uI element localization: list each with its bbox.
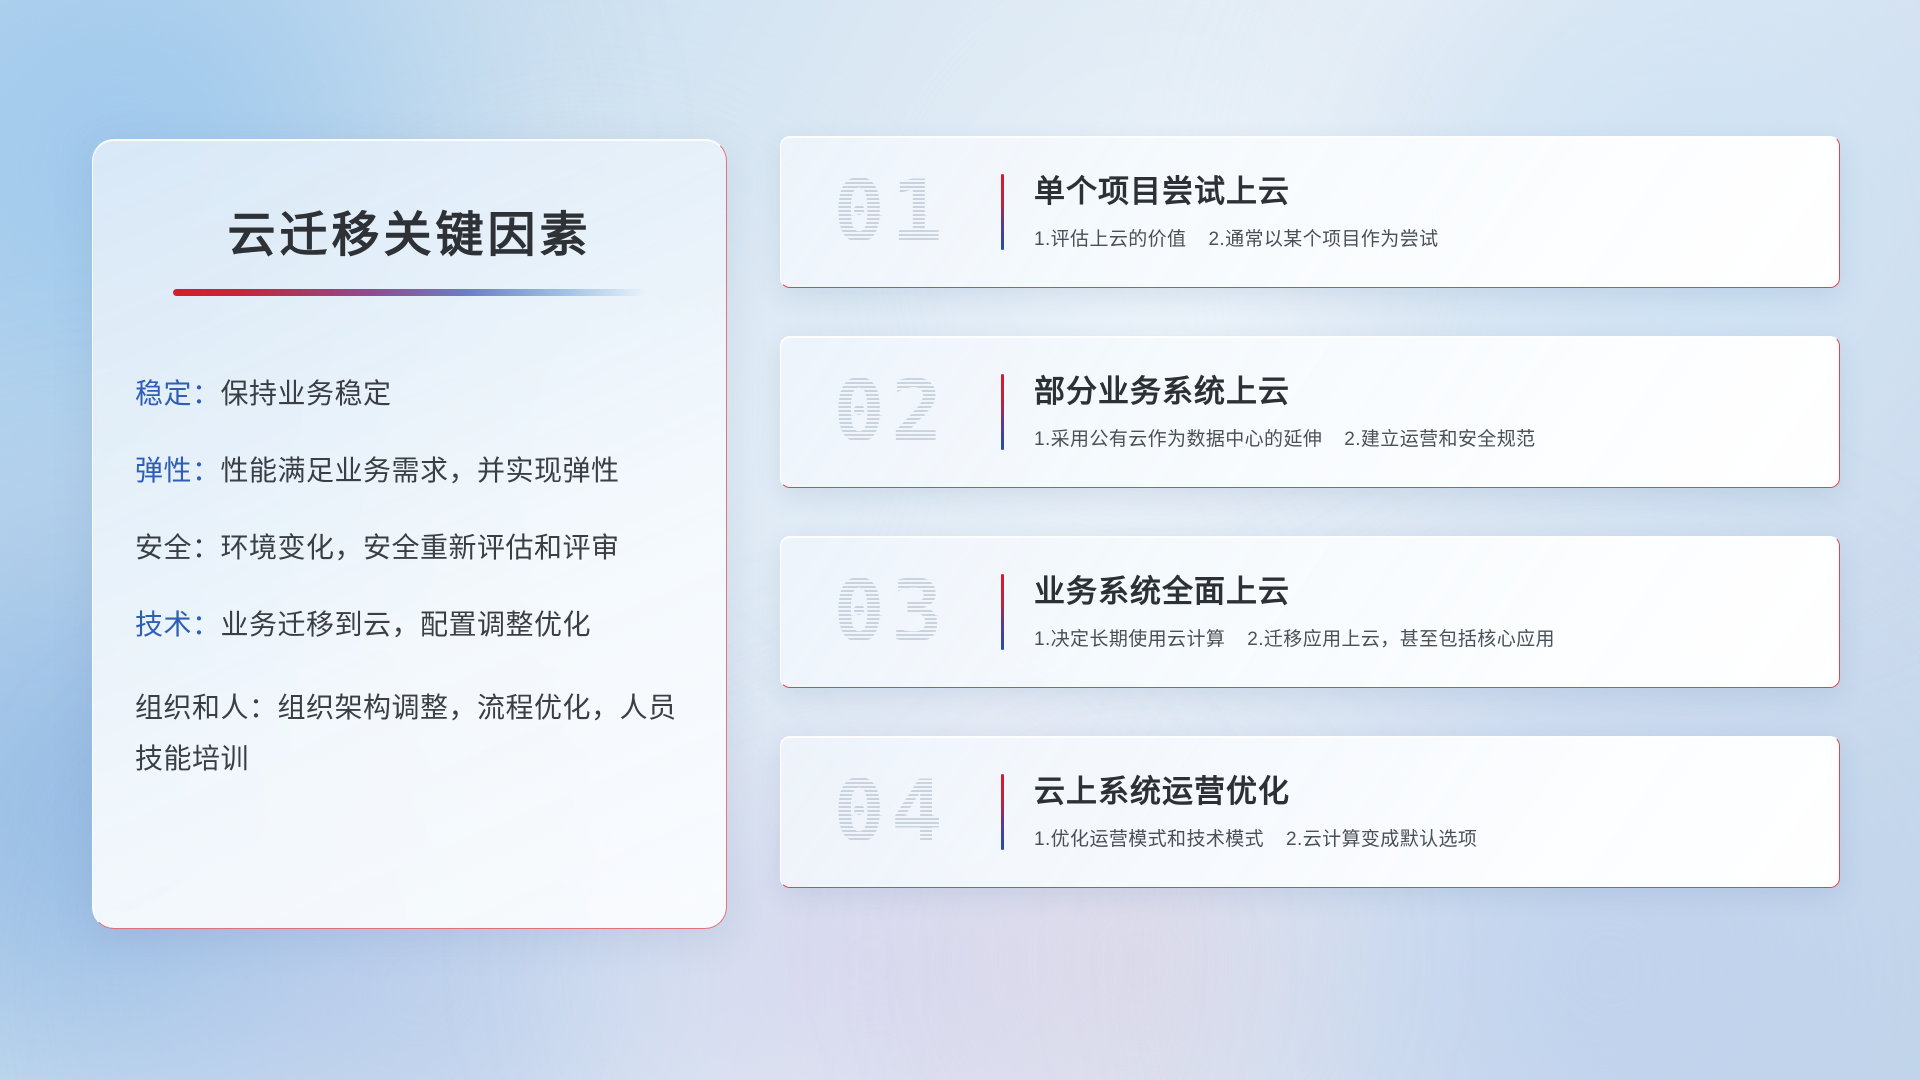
stage-point-2: 2.迁移应用上云，甚至包括核心应用 [1247,629,1555,650]
accent-divider [1001,774,1004,850]
stage-card[interactable]: 01 单个项目尝试上云 1.评估上云的价值2.通常以某个项目作为尝试 [780,136,1840,288]
accent-divider [1001,174,1004,250]
stage-points: 1.评估上云的价值2.通常以某个项目作为尝试 [1034,224,1813,251]
factor-key: 弹性： [135,455,221,486]
title-underline-accent [173,289,647,296]
stage-card-text: 云上系统运营优化 1.优化运营模式和技术模式2.云计算变成默认选项 [1034,773,1839,851]
stage-title: 部分业务系统上云 [1034,373,1813,410]
factor-value: 性能满足业务需求，并实现弹性 [221,455,620,486]
factor-key: 组织和人： [135,692,278,723]
stage-card[interactable]: 02 部分业务系统上云 1.采用公有云作为数据中心的延伸2.建立运营和安全规范 [780,336,1840,488]
list-item: 安全：环境变化，安全重新评估和评审 [135,528,726,569]
factor-value: 环境变化，安全重新评估和评审 [221,532,620,563]
stage-points: 1.决定长期使用云计算2.迁移应用上云，甚至包括核心应用 [1034,624,1813,651]
factor-key: 稳定： [135,378,221,409]
stage-card-text: 单个项目尝试上云 1.评估上云的价值2.通常以某个项目作为尝试 [1034,173,1839,251]
stage-number-badge: 01 [781,137,1001,287]
stage-point-1: 1.决定长期使用云计算 [1034,629,1225,650]
stage-number: 04 [833,762,949,862]
stage-points: 1.采用公有云作为数据中心的延伸2.建立运营和安全规范 [1034,424,1813,451]
stage-card-text: 部分业务系统上云 1.采用公有云作为数据中心的延伸2.建立运营和安全规范 [1034,373,1839,451]
stage-point-2: 2.通常以某个项目作为尝试 [1208,229,1438,250]
stage-number: 03 [833,562,949,662]
stage-points: 1.优化运营模式和技术模式2.云计算变成默认选项 [1034,824,1813,851]
factor-value: 保持业务稳定 [221,378,392,409]
stage-title: 云上系统运营优化 [1034,773,1813,810]
page-title: 云迁移关键因素 [93,195,726,265]
stage-point-1: 1.采用公有云作为数据中心的延伸 [1034,429,1322,450]
list-item: 技术：业务迁移到云，配置调整优化 [135,605,726,646]
stage-point-2: 2.建立运营和安全规范 [1344,429,1535,450]
factor-value: 业务迁移到云，配置调整优化 [221,609,592,640]
factor-key: 安全： [135,532,221,563]
stage-number-badge: 03 [781,537,1001,687]
accent-divider [1001,374,1004,450]
factor-key: 技术： [135,609,221,640]
stage-point-2: 2.云计算变成默认选项 [1286,829,1477,850]
accent-divider [1001,574,1004,650]
stage-card[interactable]: 04 云上系统运营优化 1.优化运营模式和技术模式2.云计算变成默认选项 [780,736,1840,888]
stage-number: 02 [833,362,949,462]
stage-title: 单个项目尝试上云 [1034,173,1813,210]
stage-card[interactable]: 03 业务系统全面上云 1.决定长期使用云计算2.迁移应用上云，甚至包括核心应用 [780,536,1840,688]
list-item: 稳定：保持业务稳定 [135,374,726,415]
stage-card-text: 业务系统全面上云 1.决定长期使用云计算2.迁移应用上云，甚至包括核心应用 [1034,573,1839,651]
stage-number-badge: 02 [781,337,1001,487]
factor-list: 稳定：保持业务稳定 弹性：性能满足业务需求，并实现弹性 安全：环境变化，安全重新… [135,374,726,785]
stage-point-1: 1.优化运营模式和技术模式 [1034,829,1264,850]
stage-title: 业务系统全面上云 [1034,573,1813,610]
stage-card-list: 01 单个项目尝试上云 1.评估上云的价值2.通常以某个项目作为尝试 02 部分… [780,136,1840,888]
stage-point-1: 1.评估上云的价值 [1034,229,1186,250]
stage-number: 01 [833,162,949,262]
list-item: 组织和人：组织架构调整，流程优化，人员技能培训 [135,682,695,786]
key-factors-panel: 云迁移关键因素 稳定：保持业务稳定 弹性：性能满足业务需求，并实现弹性 安全：环… [92,139,727,929]
list-item: 弹性：性能满足业务需求，并实现弹性 [135,451,726,492]
stage-number-badge: 04 [781,737,1001,887]
